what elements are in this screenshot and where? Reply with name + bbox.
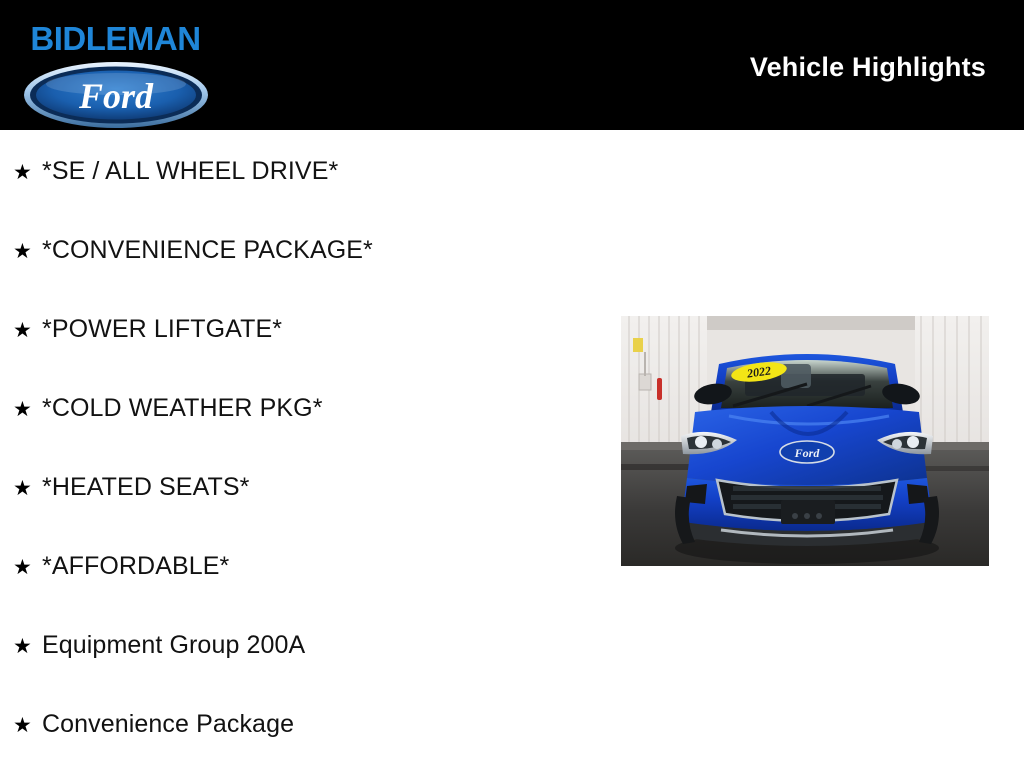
ford-oval-logo-icon: Ford <box>22 60 210 130</box>
highlight-item: ★*HEATED SEATS* <box>13 473 249 501</box>
vehicle-highlights-list: ★*SE / ALL WHEEL DRIVE*★*CONVENIENCE PAC… <box>0 130 620 768</box>
highlight-item-label: *POWER LIFTGATE* <box>42 315 282 343</box>
highlight-item: ★*CONVENIENCE PACKAGE* <box>13 236 373 264</box>
highlight-item: ★*POWER LIFTGATE* <box>13 315 282 343</box>
star-bullet-icon: ★ <box>13 715 42 736</box>
highlight-item: ★*COLD WEATHER PKG* <box>13 394 323 422</box>
header-bar: BIDLEMAN <box>0 0 1024 130</box>
dealer-wordmark: BIDLEMAN <box>13 22 218 55</box>
star-bullet-icon: ★ <box>13 636 42 657</box>
star-bullet-icon: ★ <box>13 478 42 499</box>
highlight-item: ★*AFFORDABLE* <box>13 552 229 580</box>
svg-text:Ford: Ford <box>78 76 154 116</box>
ford-grille-emblem: Ford <box>794 446 821 460</box>
star-bullet-icon: ★ <box>13 162 42 183</box>
dealer-logo[interactable]: BIDLEMAN <box>13 22 218 122</box>
highlight-item-label: Convenience Package <box>42 710 294 738</box>
highlight-item-label: Equipment Group 200A <box>42 631 305 659</box>
highlight-item-label: *COLD WEATHER PKG* <box>42 394 323 422</box>
star-bullet-icon: ★ <box>13 557 42 578</box>
highlight-item-label: *SE / ALL WHEEL DRIVE* <box>42 157 338 185</box>
page-title: Vehicle Highlights <box>750 51 986 83</box>
star-bullet-icon: ★ <box>13 399 42 420</box>
star-bullet-icon: ★ <box>13 320 42 341</box>
vehicle-photo[interactable]: 2022 Ford <box>621 316 989 566</box>
highlight-item-label: *HEATED SEATS* <box>42 473 249 501</box>
highlight-item: ★Equipment Group 200A <box>13 631 305 659</box>
star-bullet-icon: ★ <box>13 241 42 262</box>
highlight-item: ★*SE / ALL WHEEL DRIVE* <box>13 157 338 185</box>
vehicle-highlights-slide: BIDLEMAN <box>0 0 1024 768</box>
highlight-item-label: *CONVENIENCE PACKAGE* <box>42 236 373 264</box>
highlight-item-label: *AFFORDABLE* <box>42 552 229 580</box>
highlight-item: ★Convenience Package <box>13 710 294 738</box>
